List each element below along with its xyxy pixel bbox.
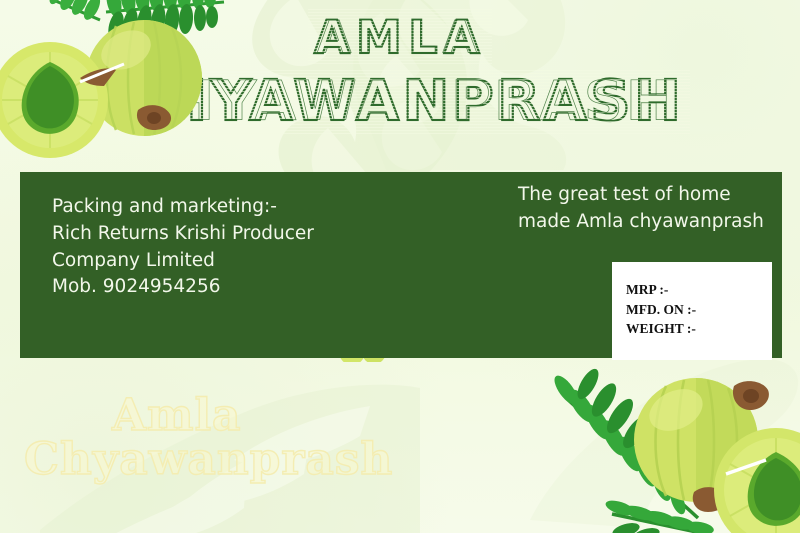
- spec-row-mrp: MRP :-: [626, 280, 696, 300]
- packing-and-marketing-text: Packing and marketing:- Rich Returns Kri…: [52, 194, 352, 301]
- spec-list: MRP :- MFD. ON :- WEIGHT :-: [626, 280, 696, 339]
- watermark-line2: Chyawanprash: [24, 434, 393, 485]
- amla-fruit-illustration-bottom-right: [548, 368, 800, 533]
- title-text-amla-inner: AMLA: [317, 15, 483, 59]
- product-tagline-text: The great test of home made Amla chyawan…: [518, 182, 768, 236]
- spec-row-mfd-on: MFD. ON :-: [626, 300, 696, 320]
- spec-row-weight: WEIGHT :-: [626, 319, 696, 339]
- label-canvas: AMLA AMLA CHYAWANPRASH CHYAWANPRASH: [0, 0, 800, 533]
- product-spec-box: MRP :- MFD. ON :- WEIGHT :-: [612, 262, 772, 360]
- amla-fruit-illustration-top-left: [0, 0, 238, 180]
